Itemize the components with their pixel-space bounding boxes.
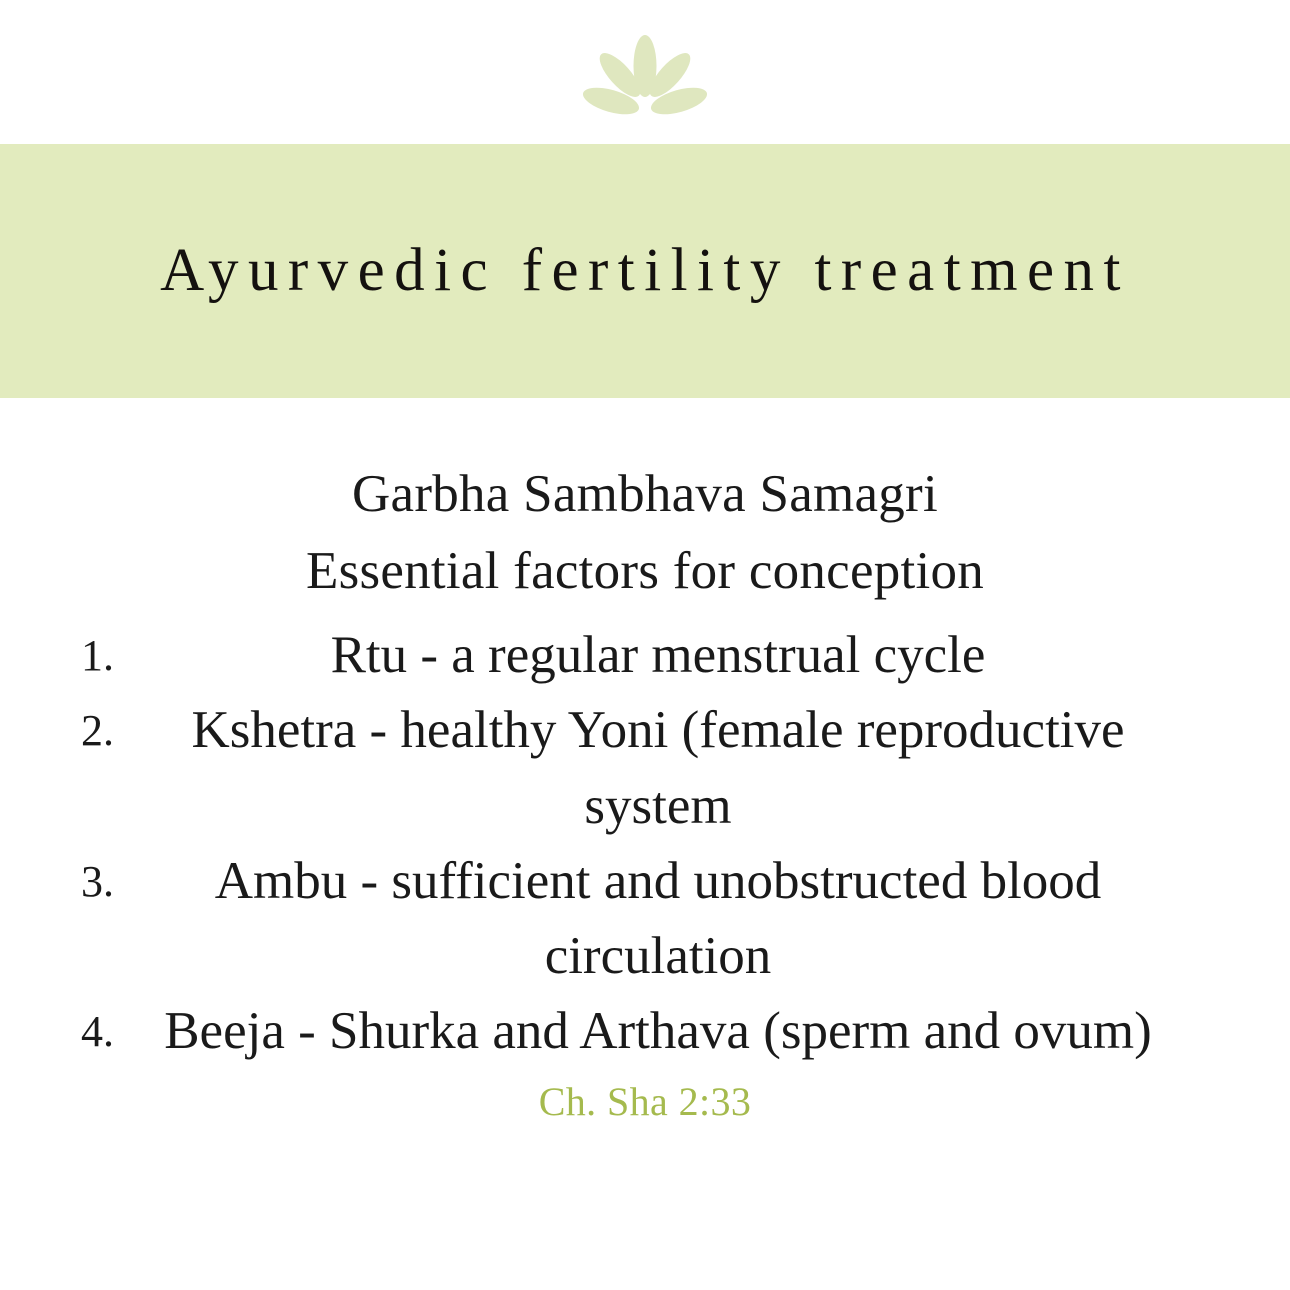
list-item-number: 3. [65,844,143,920]
poster-card: Ayurvedic fertility treatment Garbha Sam… [0,0,1290,1290]
list-item: 1. Rtu - a regular menstrual cycle [65,618,1225,694]
page-title: Ayurvedic fertility treatment [160,237,1130,304]
heading-line-sanskrit: Garbha Sambhava Samagri [306,456,984,533]
list-item: 4. Beeja - Shurka and Arthava (sperm and… [65,994,1225,1070]
list-item-number: 1. [65,618,143,694]
list-item-label: Beeja - Shurka and Arthava (sperm and ov… [143,994,1225,1069]
list-item-label: Rtu - a regular menstrual cycle [143,618,1225,693]
factor-list: 1. Rtu - a regular menstrual cycle 2. Ks… [65,618,1225,1070]
title-band: Ayurvedic fertility treatment [0,144,1290,398]
list-item: 2. Kshetra - healthy Yoni (female reprod… [65,693,1225,844]
source-citation: Ch. Sha 2:33 [539,1076,752,1128]
list-item-number: 2. [65,693,143,769]
list-item-number: 4. [65,994,143,1070]
list-item: 3. Ambu - sufficient and unobstructed bl… [65,844,1225,995]
content-area: Garbha Sambhava Samagri Essential factor… [0,398,1290,1290]
heading-block: Garbha Sambhava Samagri Essential factor… [306,456,984,610]
list-item-label: Ambu - sufficient and unobstructed blood… [143,844,1225,995]
list-item-label: Kshetra - healthy Yoni (female reproduct… [143,693,1225,844]
emblem-area [0,0,1290,144]
heading-line-english: Essential factors for conception [306,533,984,610]
lotus-icon [580,33,710,125]
